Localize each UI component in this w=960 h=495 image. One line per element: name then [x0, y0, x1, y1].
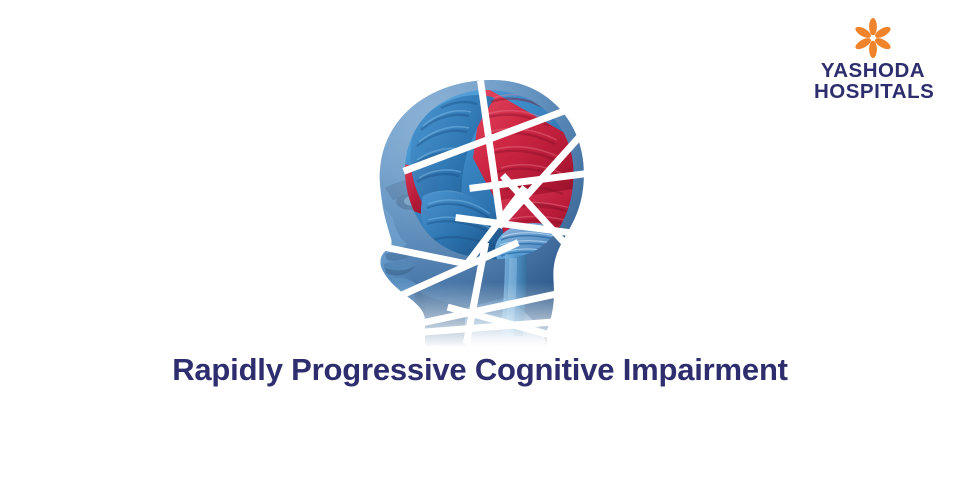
page-title: Rapidly Progressive Cognitive Impairment [0, 352, 960, 388]
bottom-fade [355, 282, 625, 348]
logo-line-hospitals: HOSPITALS [814, 82, 932, 103]
yashoda-hospitals-logo[interactable]: YASHODA HOSPITALS [814, 18, 932, 104]
flower-icon [850, 18, 896, 58]
brain-head-illustration [355, 68, 625, 348]
logo-line-yashoda: YASHODA [814, 61, 932, 82]
banner-root: YASHODA HOSPITALS [0, 0, 960, 495]
brain-head-profile-icon [355, 68, 625, 348]
